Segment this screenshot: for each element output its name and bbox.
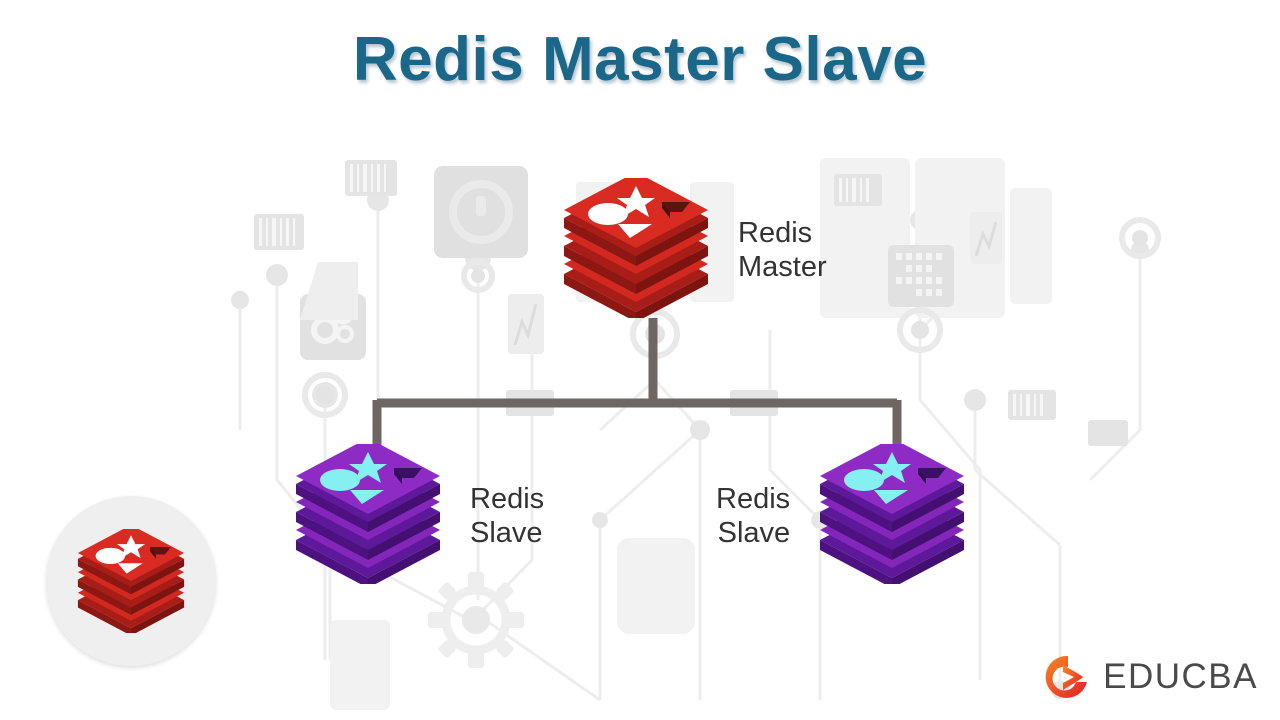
redis-cube-icon: [288, 444, 448, 584]
redis-logo-badge: [46, 496, 216, 666]
redis-cube-icon: [812, 444, 972, 584]
redis-cube-icon: [556, 178, 716, 318]
redis-master-cube: [556, 178, 716, 323]
node-label-master: Redis Master: [738, 217, 827, 285]
node-redis-slave-left[interactable]: Redis Slave: [288, 444, 544, 589]
redis-cube-icon: [72, 529, 190, 633]
redis-slave-left-cube: [288, 444, 448, 589]
node-label-slave-left: Redis Slave: [470, 483, 544, 551]
node-redis-master[interactable]: Redis Master: [556, 178, 827, 323]
slide-canvas: Redis Master Slave: [0, 0, 1280, 720]
redis-slave-right-cube: [812, 444, 972, 589]
node-redis-slave-right[interactable]: Redis Slave: [716, 444, 972, 589]
educba-wordmark: EDUCBA: [1103, 657, 1258, 697]
educba-logo[interactable]: EDUCBA: [1043, 652, 1258, 702]
educba-play-icon: [1043, 652, 1093, 702]
node-label-slave-right: Redis Slave: [716, 483, 790, 551]
